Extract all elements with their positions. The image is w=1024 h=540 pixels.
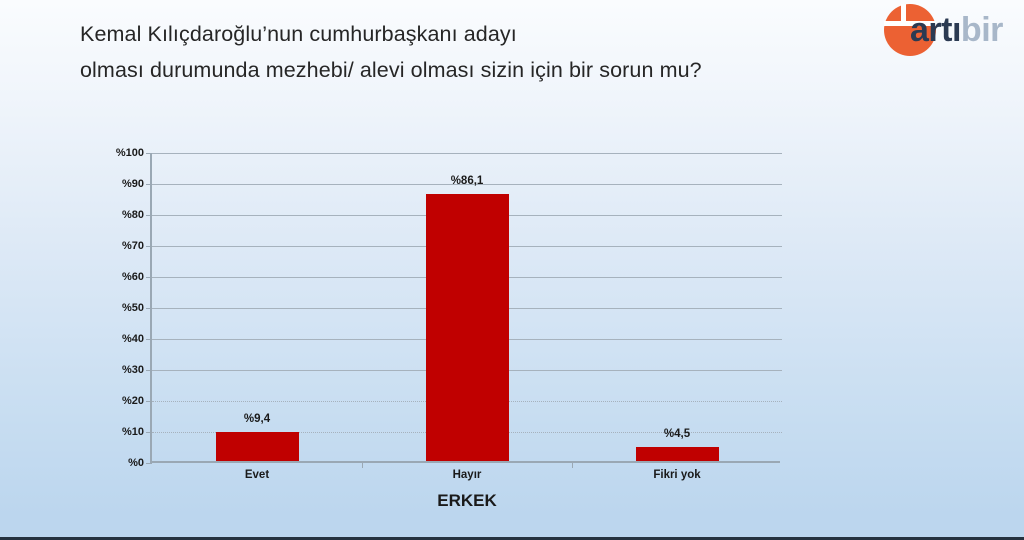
x-axis-category-label: Hayır: [453, 469, 482, 481]
y-axis-label: %40: [122, 333, 144, 345]
y-axis-label: %80: [122, 209, 144, 221]
y-axis-tick: [146, 153, 152, 154]
y-axis-label: %60: [122, 271, 144, 283]
artibir-logo: artıbir: [884, 2, 1024, 58]
y-axis-tick: [146, 215, 152, 216]
title-line-2: olması durumunda mezhebi/ alevi olması s…: [80, 52, 880, 88]
y-axis-tick: [146, 246, 152, 247]
slide-canvas: Kemal Kılıçdaroğlu’nun cumhurbaşkanı ada…: [0, 0, 1024, 540]
bar-value-label: %86,1: [451, 175, 484, 187]
logo-wordmark-light: bir: [961, 11, 1003, 49]
bar[interactable]: [216, 432, 299, 461]
x-axis-category-label: Fikri yok: [653, 469, 700, 481]
y-axis-tick: [146, 370, 152, 371]
y-axis-tick: [146, 339, 152, 340]
bar-chart: %100%90%80%70%60%50%40%30%20%10%0 %9,4%8…: [150, 153, 780, 463]
x-axis-category-label: Evet: [245, 469, 269, 481]
page-title: Kemal Kılıçdaroğlu’nun cumhurbaşkanı ada…: [80, 16, 880, 88]
bar-value-label: %9,4: [244, 413, 270, 425]
y-axis-label: %50: [122, 302, 144, 314]
y-axis-label: %0: [128, 457, 144, 469]
bar[interactable]: [426, 194, 509, 461]
y-axis-tick: [146, 308, 152, 309]
y-axis-label: %70: [122, 240, 144, 252]
y-axis-tick: [146, 277, 152, 278]
y-axis-label: %90: [122, 178, 144, 190]
plot-area: %100%90%80%70%60%50%40%30%20%10%0 %9,4%8…: [150, 153, 780, 463]
y-axis-tick: [146, 184, 152, 185]
bar-value-label: %4,5: [664, 428, 690, 440]
gridline: [152, 153, 782, 154]
x-axis-tick: [362, 461, 363, 468]
x-axis-title: ERKEK: [152, 491, 782, 511]
y-axis-tick: [146, 401, 152, 402]
y-axis-tick: [146, 432, 152, 433]
x-axis-tick: [572, 461, 573, 468]
y-axis-label: %10: [122, 426, 144, 438]
logo-wordmark: artıbir: [910, 11, 1003, 50]
y-axis-label: %20: [122, 395, 144, 407]
y-axis-label: %100: [116, 147, 144, 159]
title-line-1: Kemal Kılıçdaroğlu’nun cumhurbaşkanı ada…: [80, 16, 880, 52]
logo-wordmark-dark: artı: [910, 11, 961, 49]
bar[interactable]: [636, 447, 719, 461]
y-axis-tick: [146, 463, 152, 464]
y-axis-label: %30: [122, 364, 144, 376]
